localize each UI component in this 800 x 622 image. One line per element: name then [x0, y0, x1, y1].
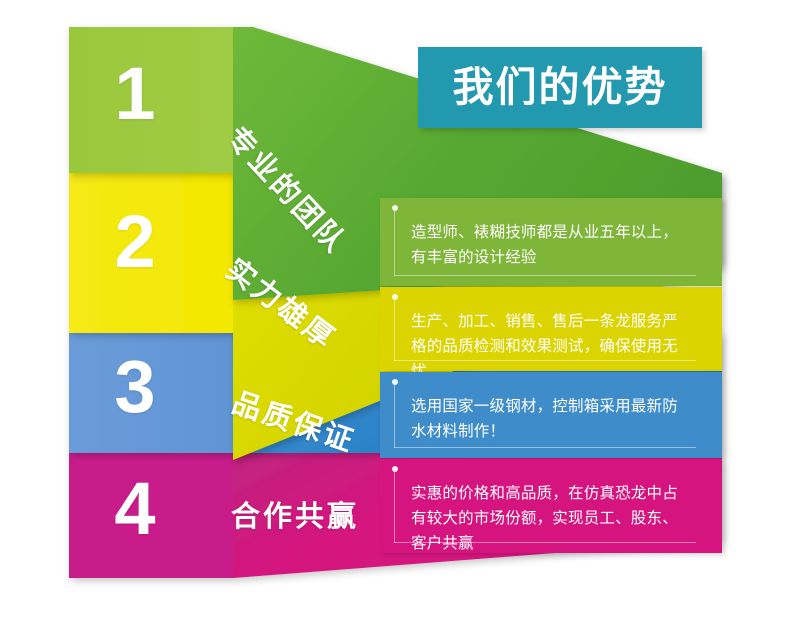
description-text-1: 造型师、裱糊技师都是从业五年以上，有丰富的设计经验 — [380, 198, 722, 292]
description-text-4: 实惠的价格和高品质，在仿真恐龙中占有较大的市场份额，实现员工、股东、客户共赢 — [380, 459, 722, 578]
description-box-3: 选用国家一级钢材，控制箱采用最新防水材料制作！ — [380, 372, 722, 458]
panel-label-4: 合作共赢 — [231, 503, 359, 532]
description-box-2: 生产、加工、销售、售后一条龙服务严格的品质检测和效果测试，确保使用无忧 — [380, 287, 722, 371]
panel-number-2: 2 — [105, 205, 165, 279]
page-title: 我们的优势 — [453, 67, 668, 108]
infographic-canvas: 我们的优势 1 2 3 4 专业的团队 实力雄厚 品质保证 合作共赢 造型师、裱… — [0, 0, 800, 622]
description-text-3: 选用国家一级钢材，控制箱采用最新防水材料制作！ — [380, 372, 722, 466]
description-box-4: 实惠的价格和高品质，在仿真恐龙中占有较大的市场份额，实现员工、股东、客户共赢 — [380, 459, 722, 553]
description-box-1: 造型师、裱糊技师都是从业五年以上，有丰富的设计经验 — [380, 198, 722, 286]
panel-number-4: 4 — [105, 472, 165, 546]
panel-number-3: 3 — [105, 350, 165, 424]
title-banner: 我们的优势 — [418, 47, 702, 128]
panel-number-1: 1 — [105, 57, 165, 131]
